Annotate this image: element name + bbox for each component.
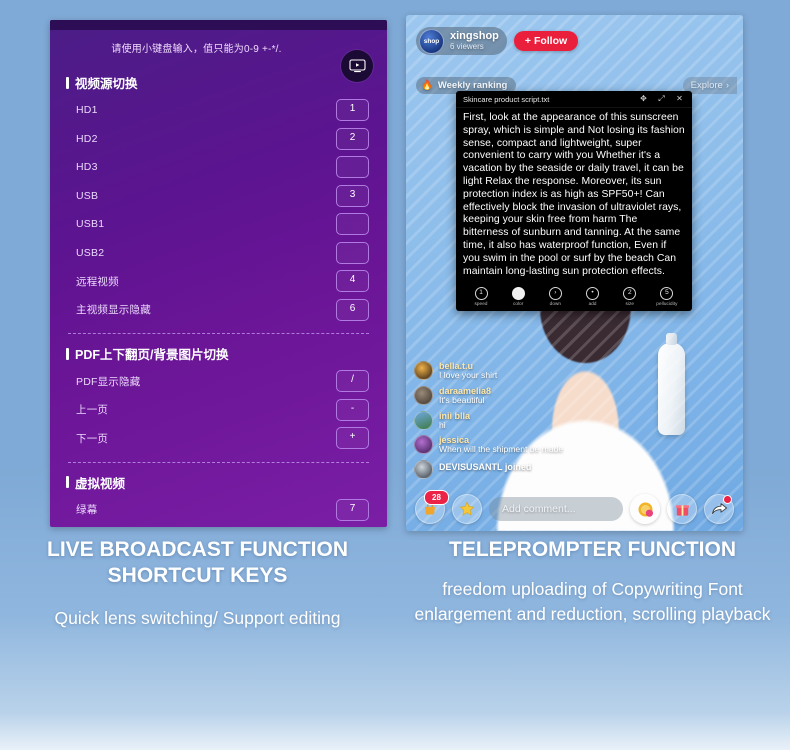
teleprompter-tool-pellucidity[interactable]: 5 pellucidity xyxy=(652,287,682,306)
keycap[interactable] xyxy=(336,156,369,178)
shortcut-label: 远程视频 xyxy=(76,274,119,289)
chat-body: inii blla hi xyxy=(439,411,470,431)
chat-message: bella.t.u I love your shirt xyxy=(414,361,624,381)
chat-body: jessica When will the shipment be made xyxy=(439,435,563,455)
shortcut-label: 主视频显示隐藏 xyxy=(76,302,151,317)
tool-label: color xyxy=(513,301,523,306)
star-icon[interactable] xyxy=(452,494,482,524)
tool-label: size xyxy=(625,301,634,306)
shortcut-label: 绿幕 xyxy=(76,502,97,517)
chat-join-notice-row: DEVISUSANTL joined xyxy=(414,460,624,479)
chat-message: jessica When will the shipment be made xyxy=(414,435,624,455)
section-header-pdf: PDF上下翻页/背景图片切换 xyxy=(66,344,387,363)
chat-text: When will the shipment be made xyxy=(439,445,563,455)
panel-titlebar xyxy=(50,20,387,30)
host-name: xingshop xyxy=(450,31,499,43)
keycap[interactable]: 2 xyxy=(336,128,369,150)
section-divider xyxy=(68,462,369,463)
tool-label: speed xyxy=(474,301,487,306)
chat-message: inii blla hi xyxy=(414,411,624,431)
chat-feed: bella.t.u I love your shirt daraamelia8 … xyxy=(414,356,624,479)
live-stream-preview: shop xingshop 6 viewers + Follow 🔥 Weekl… xyxy=(406,15,743,531)
shortcut-keys-panel: 请使用小键盘输入，值只能为0-9 +-*/. 视频源切换 HD1 1 HD2 2… xyxy=(50,20,387,527)
section-marker xyxy=(66,348,69,360)
keycap[interactable]: 6 xyxy=(336,299,369,321)
teleprompter-tool-color[interactable]: color xyxy=(503,287,533,306)
tool-label: add xyxy=(589,301,597,306)
teleprompter-tool-size[interactable]: 2 size xyxy=(615,287,645,306)
caption-subheading: freedom uploading of Copywriting Font en… xyxy=(409,577,776,627)
shortcut-row-usb[interactable]: USB 3 xyxy=(50,182,387,211)
keycap[interactable]: + xyxy=(336,427,369,449)
caption-right: TELEPROMPTER FUNCTION freedom uploading … xyxy=(395,537,790,631)
shortcut-label: USB1 xyxy=(76,218,104,230)
tool-label: down xyxy=(550,301,561,306)
shop-bag-icon[interactable]: 28 xyxy=(415,494,445,524)
add-icon: • xyxy=(586,287,599,300)
weekly-ranking-label: Weekly ranking xyxy=(438,80,508,91)
opacity-icon: 5 xyxy=(660,287,673,300)
product-bottle xyxy=(658,343,685,435)
tool-label: pellucidity xyxy=(656,301,677,306)
shortcut-row-hd2[interactable]: HD2 2 xyxy=(50,125,387,154)
section-header-virtual-video: 虚拟视频 xyxy=(66,473,387,492)
shortcut-row-hd1[interactable]: HD1 1 xyxy=(50,96,387,125)
section-marker xyxy=(66,476,69,488)
move-icon[interactable]: ✥ xyxy=(638,95,649,103)
shortcut-row-usb2[interactable]: USB2 xyxy=(50,239,387,268)
shortcut-row-next-page[interactable]: 下一页 + xyxy=(50,424,387,453)
section-header-video-source: 视频源切换 xyxy=(66,73,387,92)
shortcut-row-green-screen[interactable]: 绿幕 7 xyxy=(50,496,387,525)
chat-text: It's beautiful xyxy=(439,396,491,406)
shortcut-label: USB xyxy=(76,190,98,202)
chat-body: daraamelia8 It's beautiful xyxy=(439,386,491,406)
section-title-text: 视频源切换 xyxy=(75,73,138,92)
stream-action-bar: 28 Add comment... xyxy=(406,494,743,524)
coin-icon[interactable] xyxy=(630,494,660,524)
teleprompter-tool-down[interactable]: › down xyxy=(540,287,570,306)
chat-join-notice: DEVISUSANTL joined xyxy=(439,460,531,472)
shortcut-label: HD3 xyxy=(76,161,98,173)
monitor-play-icon[interactable] xyxy=(341,50,373,82)
teleprompter-file-name: Skincare product script.txt xyxy=(463,95,631,104)
minimize-icon[interactable]: ⤢ xyxy=(656,95,667,103)
keycap[interactable]: / xyxy=(336,370,369,392)
shortcut-label: 下一页 xyxy=(76,431,108,446)
explore-label: Explore xyxy=(691,80,723,91)
caption-left: LIVE BROADCAST FUNCTION SHORTCUT KEYS Qu… xyxy=(0,537,395,631)
keycap[interactable]: 4 xyxy=(336,270,369,292)
shortcut-row-usb1[interactable]: USB1 xyxy=(50,210,387,239)
scroll-down-icon: › xyxy=(549,287,562,300)
gift-icon[interactable] xyxy=(667,494,697,524)
font-size-icon: 2 xyxy=(623,287,636,300)
avatar: shop xyxy=(419,29,444,54)
avatar xyxy=(414,411,433,430)
close-icon[interactable]: ✕ xyxy=(674,95,685,103)
section-marker xyxy=(66,77,69,89)
chevron-right-icon: › xyxy=(726,80,729,91)
teleprompter-tool-speed[interactable]: 1 speed xyxy=(466,287,496,306)
caption-subheading: Quick lens switching/ Support editing xyxy=(14,606,381,631)
section-title-text: 虚拟视频 xyxy=(75,473,125,492)
shortcut-row-picture-in-picture[interactable]: 画中画 8 xyxy=(50,524,387,527)
shortcut-row-main-video-toggle[interactable]: 主视频显示隐藏 6 xyxy=(50,296,387,325)
speed-icon: 1 xyxy=(475,287,488,300)
stream-header: shop xingshop 6 viewers + Follow xyxy=(416,27,578,55)
keycap[interactable] xyxy=(336,242,369,264)
chat-body: bella.t.u I love your shirt xyxy=(439,361,497,381)
shortcut-label: USB2 xyxy=(76,247,104,259)
shortcut-label: HD1 xyxy=(76,104,98,116)
chat-text: hi xyxy=(439,421,470,431)
keycap[interactable]: 3 xyxy=(336,185,369,207)
comment-input[interactable]: Add comment... xyxy=(489,497,623,521)
keycap[interactable] xyxy=(336,213,369,235)
caption-heading: TELEPROMPTER FUNCTION xyxy=(409,537,776,563)
shortcut-row-hd3[interactable]: HD3 xyxy=(50,153,387,182)
caption-row: LIVE BROADCAST FUNCTION SHORTCUT KEYS Qu… xyxy=(0,537,790,631)
flame-icon: 🔥 xyxy=(421,80,433,91)
keycap[interactable]: 1 xyxy=(336,99,369,121)
shop-badge-count: 28 xyxy=(424,490,449,505)
teleprompter-tool-add[interactable]: • add xyxy=(578,287,608,306)
host-meta: xingshop 6 viewers xyxy=(450,31,499,51)
caption-heading: LIVE BROADCAST FUNCTION SHORTCUT KEYS xyxy=(14,537,381,589)
shortcut-label: PDF显示隐藏 xyxy=(76,374,140,389)
keycap[interactable]: 7 xyxy=(336,499,369,521)
follow-button[interactable]: + Follow xyxy=(514,31,578,51)
shortcut-row-prev-page[interactable]: 上一页 - xyxy=(50,396,387,425)
keypad-hint: 请使用小键盘输入，值只能为0-9 +-*/. xyxy=(50,30,387,55)
teleprompter-script-text: First, look at the appearance of this su… xyxy=(456,108,692,284)
shortcut-row-remote-video[interactable]: 远程视频 4 xyxy=(50,267,387,296)
shortcut-sections: 视频源切换 HD1 1 HD2 2 HD3 USB 3 USB1 USB2 远程… xyxy=(50,55,387,527)
share-notification-dot xyxy=(723,495,732,504)
chat-message: daraamelia8 It's beautiful xyxy=(414,386,624,406)
section-divider xyxy=(68,333,369,334)
shortcut-label: 上一页 xyxy=(76,402,108,417)
avatar xyxy=(414,386,433,405)
keycap[interactable]: - xyxy=(336,399,369,421)
share-icon[interactable] xyxy=(704,494,734,524)
section-title-text: PDF上下翻页/背景图片切换 xyxy=(75,344,228,363)
shortcut-row-pdf-toggle[interactable]: PDF显示隐藏 / xyxy=(50,367,387,396)
viewer-count: 6 viewers xyxy=(450,43,499,51)
avatar xyxy=(414,361,433,380)
host-info-pill[interactable]: shop xingshop 6 viewers xyxy=(416,27,507,55)
teleprompter-toolbar: 1 speed color › down • add 2 size 5 pell… xyxy=(456,284,692,311)
teleprompter-titlebar: Skincare product script.txt ✥ ⤢ ✕ xyxy=(456,91,692,108)
avatar xyxy=(414,435,433,454)
avatar xyxy=(414,460,433,479)
shortcut-label: HD2 xyxy=(76,133,98,145)
chat-text: I love your shirt xyxy=(439,371,497,381)
color-swatch-icon xyxy=(512,287,525,300)
teleprompter-window[interactable]: Skincare product script.txt ✥ ⤢ ✕ First,… xyxy=(456,91,692,311)
